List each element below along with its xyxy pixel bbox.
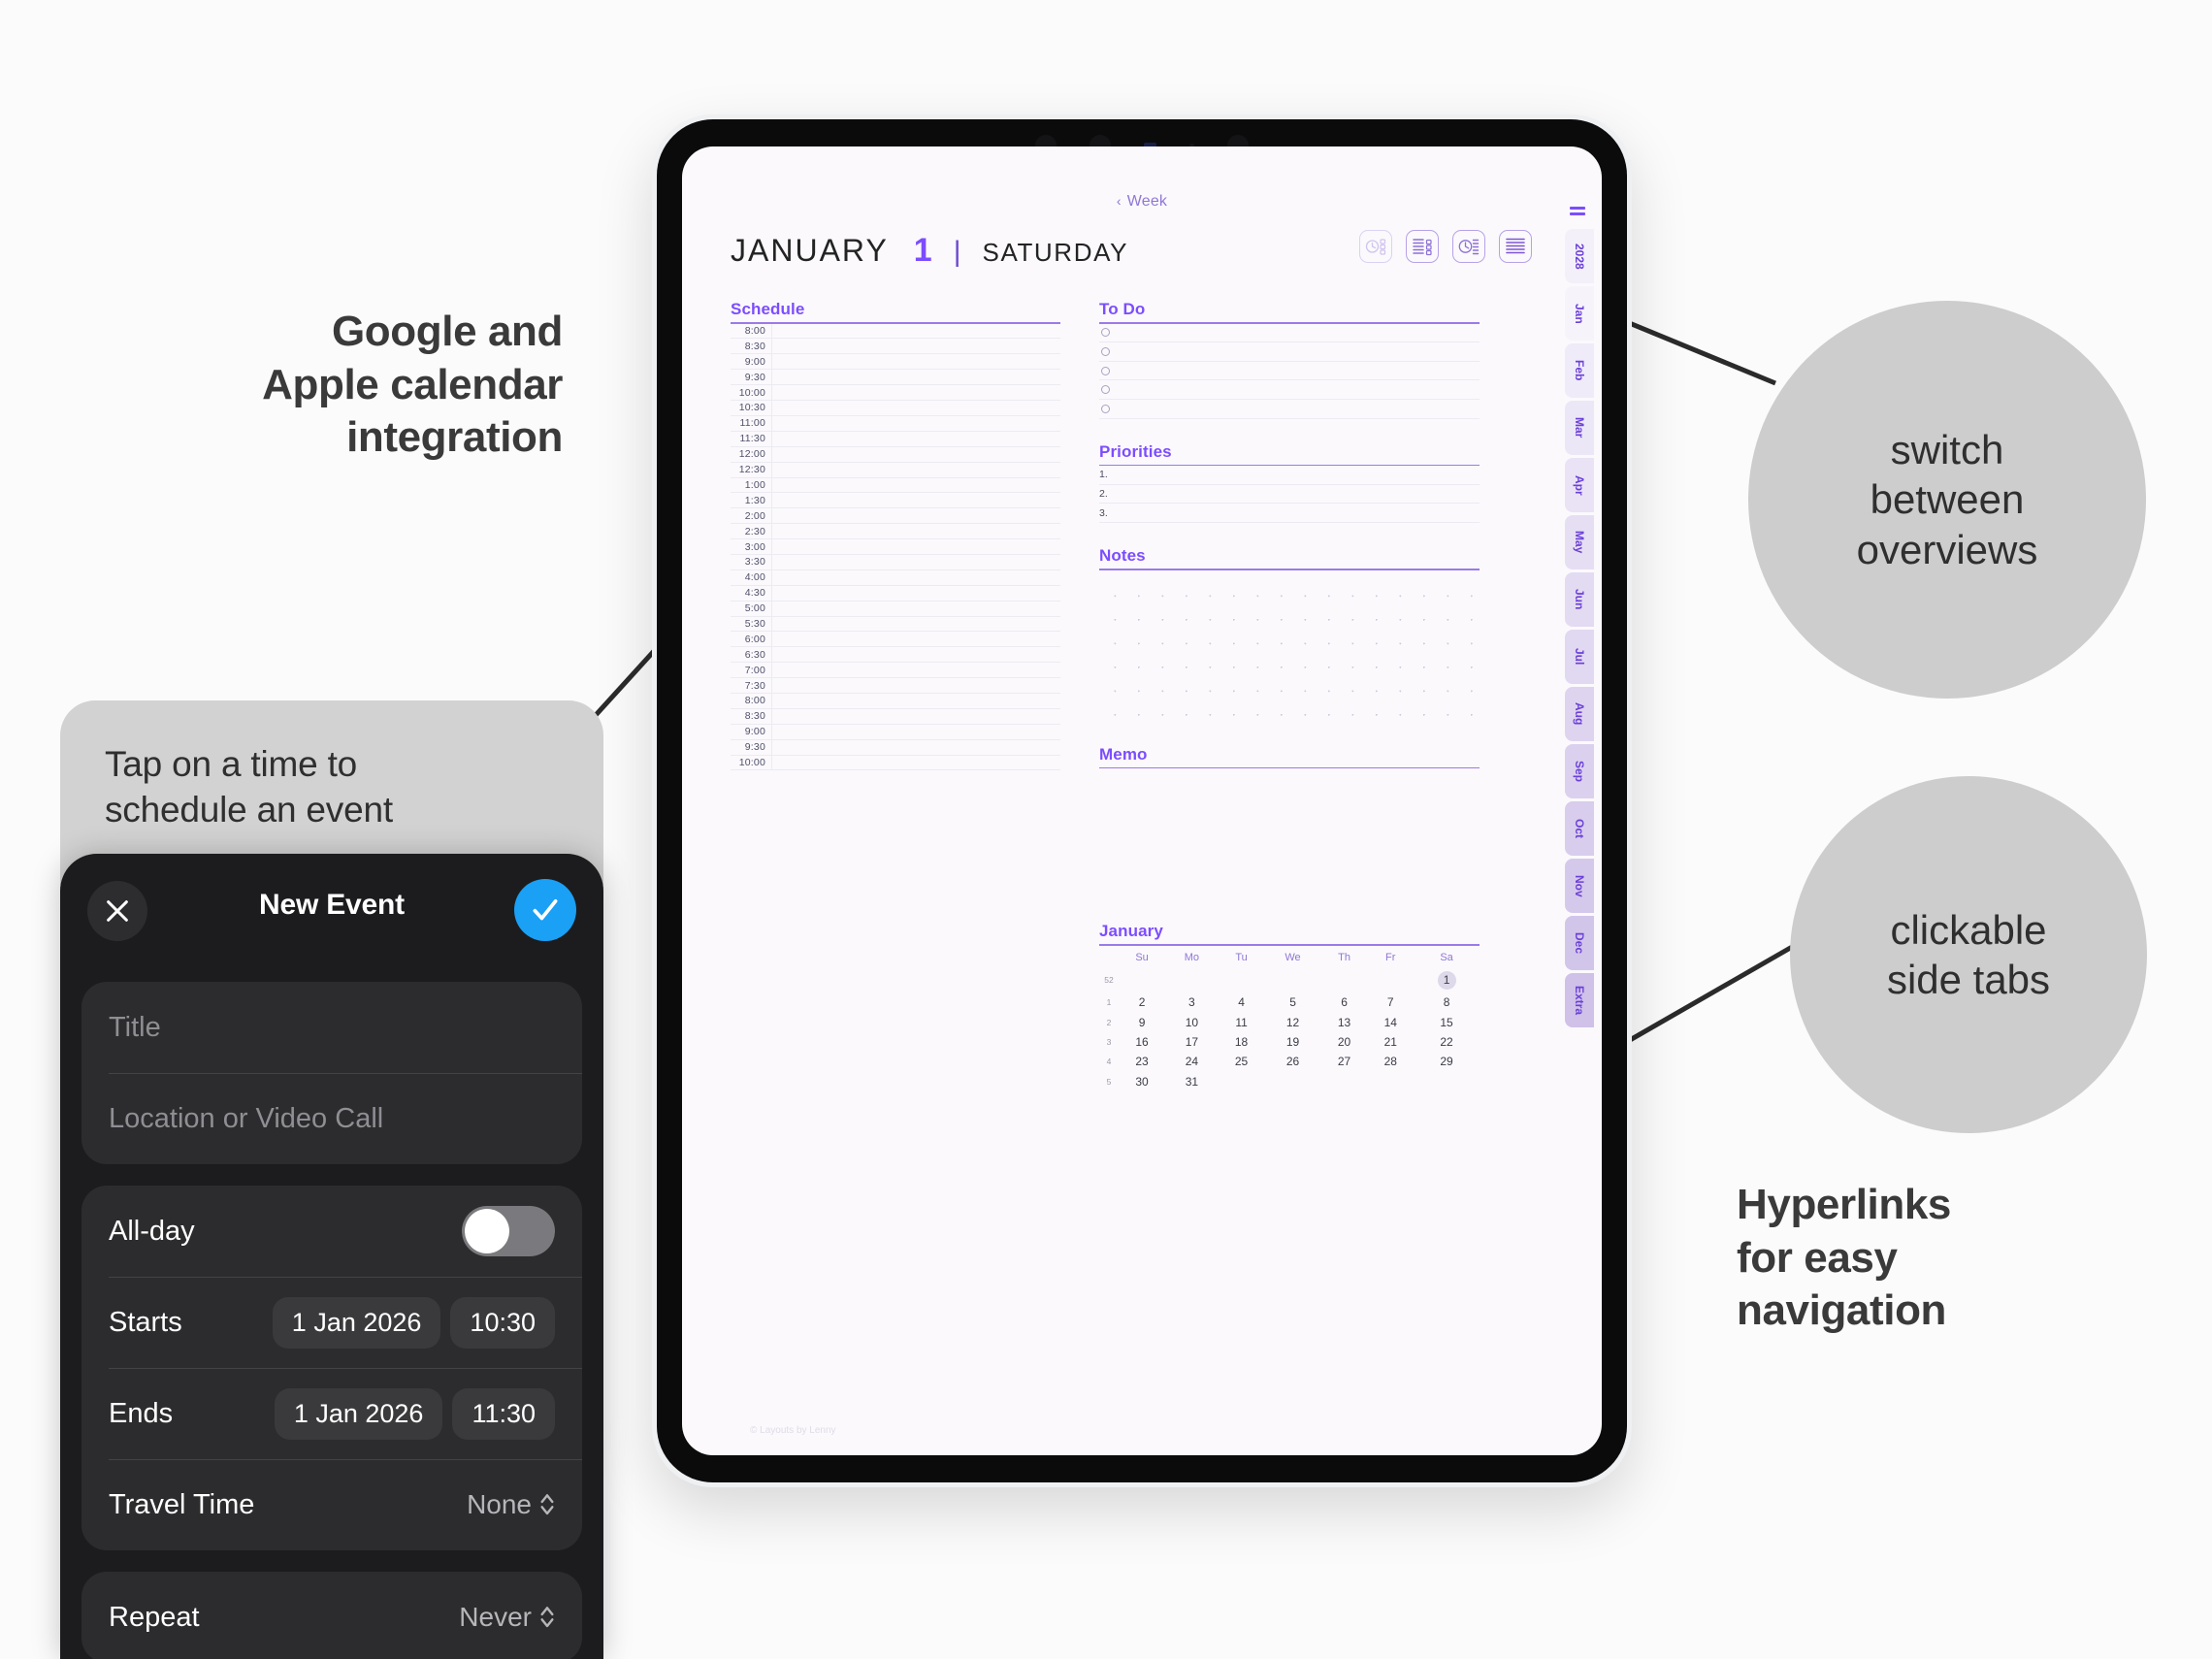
schedule-row[interactable]: 9:00 [731, 354, 1060, 370]
schedule-time-label: 6:00 [731, 634, 771, 645]
schedule-time-label: 4:00 [731, 571, 771, 583]
schedule-time-label: 8:30 [731, 341, 771, 352]
schedule-row[interactable]: 7:30 [731, 678, 1060, 694]
week-link-label: Week [1127, 193, 1167, 210]
schedule-entry-area[interactable] [771, 354, 1060, 369]
side-tab-label: Extra [1573, 986, 1586, 1015]
priority-item[interactable]: 1. [1099, 466, 1480, 485]
schedule-entry-area[interactable] [771, 647, 1060, 662]
side-tab-label: May [1573, 531, 1586, 553]
schedule-row[interactable]: 2:30 [731, 524, 1060, 539]
new-event-panel: New Event Title Location or Video Call A… [60, 854, 603, 1659]
schedule-entry-area[interactable] [771, 632, 1060, 646]
chevron-up-down-icon [539, 1490, 555, 1518]
calendar-day[interactable]: 17 [1165, 1032, 1219, 1052]
memo-writing-area[interactable] [1099, 768, 1480, 904]
schedule-row[interactable]: 6:00 [731, 632, 1060, 647]
calendar-day[interactable]: 5 [1264, 992, 1320, 1012]
calendar-day[interactable]: 3 [1165, 992, 1219, 1012]
side-tab-mar[interactable]: Mar [1565, 401, 1594, 455]
mini-calendar-body: 5211234567829101112131415316171819202122… [1099, 968, 1480, 1091]
calendar-day[interactable]: 12 [1264, 1012, 1320, 1031]
month-label: JANUARY [731, 233, 889, 269]
notes-title: Notes [1099, 546, 1480, 566]
schedule-row[interactable]: 8:00 [731, 324, 1060, 340]
side-tab-jun[interactable]: Jun [1565, 572, 1594, 627]
index-bar [1570, 212, 1585, 215]
schedule-entry-area[interactable] [771, 694, 1060, 708]
day-of-week-label: SATURDAY [983, 238, 1129, 268]
schedule-entry-area[interactable] [771, 463, 1060, 477]
side-tab-label: Aug [1573, 702, 1586, 725]
weekday-header: Su [1119, 952, 1165, 968]
week-number[interactable]: 52 [1099, 968, 1119, 992]
side-tab-label: Dec [1573, 932, 1586, 954]
calendar-day [1219, 1072, 1265, 1091]
annotation-clickable-side-tabs: clickable side tabs [1790, 776, 2147, 1133]
back-to-week-link[interactable]: ‹Week [682, 193, 1602, 211]
calendar-day[interactable]: 28 [1367, 1052, 1414, 1071]
schedule-entry-area[interactable] [771, 508, 1060, 523]
weekday-header: Sa [1414, 952, 1480, 968]
view-switcher [1359, 230, 1532, 263]
side-tab-may[interactable]: May [1565, 515, 1594, 569]
todo-item[interactable] [1099, 324, 1480, 343]
schedule-row[interactable]: 6:30 [731, 647, 1060, 663]
schedule-time-label: 1:30 [731, 495, 771, 506]
schedule-time-label: 11:00 [731, 417, 771, 429]
day-number: 1 [914, 232, 932, 270]
schedule-entry-area[interactable] [771, 602, 1060, 616]
schedule-entry-area[interactable] [771, 432, 1060, 446]
side-tab-label: Jan [1573, 304, 1586, 324]
calendar-day[interactable]: 23 [1119, 1052, 1165, 1071]
schedule-entry-area[interactable] [771, 493, 1060, 507]
weekday-header: We [1264, 952, 1320, 968]
ends-label: Ends [109, 1398, 173, 1430]
event-repeat-card: Repeat Never [81, 1572, 582, 1659]
mini-calendar-head: SuMoTuWeThFrSa [1099, 952, 1480, 968]
schedule-row[interactable]: 12:00 [731, 447, 1060, 463]
tooltip-text: Tap on a time to schedule an event [105, 741, 559, 833]
calendar-day[interactable]: 16 [1119, 1032, 1165, 1052]
calendar-day[interactable]: 1 [1414, 968, 1480, 992]
todo-item[interactable] [1099, 362, 1480, 381]
schedule-entry-area[interactable] [771, 709, 1060, 724]
week-number-header [1099, 952, 1119, 968]
schedule-row[interactable]: 7:00 [731, 663, 1060, 678]
side-tab-label: Apr [1573, 475, 1586, 496]
page-title: JANUARY 1 | SATURDAY [731, 232, 1128, 270]
allday-label: All-day [109, 1216, 195, 1248]
schedule-entry-area[interactable] [771, 339, 1060, 353]
side-tab-dec[interactable]: Dec [1565, 916, 1594, 970]
annotation-google-apple-integration: Google and Apple calendar integration [97, 306, 563, 465]
annotation-text: clickable side tabs [1887, 905, 2050, 1004]
mini-calendar: January SuMoTuWeThFrSa 52112345678291011… [1099, 922, 1480, 1091]
side-tab-label: Nov [1573, 875, 1586, 897]
schedule-row[interactable]: 10:30 [731, 401, 1060, 416]
planner-page: ‹Week JANUARY 1 | SATURDAY [682, 146, 1602, 1455]
schedule-time-label: 9:00 [731, 356, 771, 368]
notes-section: Notes [1099, 546, 1480, 722]
schedule-entry-area[interactable] [771, 740, 1060, 755]
annotation-text: switch between overviews [1857, 425, 2038, 574]
calendar-day [1321, 968, 1368, 992]
schedule-time-label: 1:00 [731, 479, 771, 491]
schedule-row[interactable]: 8:30 [731, 339, 1060, 354]
event-title-card: Title Location or Video Call [81, 982, 582, 1164]
calendar-day[interactable]: 26 [1264, 1052, 1320, 1071]
annotation-line: Hyperlinks [1737, 1179, 2144, 1232]
schedule-entry-area[interactable] [771, 586, 1060, 601]
calendar-day[interactable]: 4 [1219, 992, 1265, 1012]
page-footer: © Layouts by Lenny [750, 1425, 836, 1436]
annotation-line: integration [97, 411, 563, 465]
checkbox-circle-icon[interactable] [1101, 347, 1110, 356]
calendar-week-row: 53031 [1099, 1072, 1480, 1091]
week-number[interactable]: 4 [1099, 1052, 1119, 1071]
side-tabs: 2028JanFebMarAprMayJunJulAugSepOctNovDec… [1561, 229, 1594, 1027]
allday-row[interactable]: All-day [81, 1186, 582, 1277]
week-number[interactable]: 5 [1099, 1072, 1119, 1091]
calendar-day[interactable]: 19 [1264, 1032, 1320, 1052]
view-icon-list-checklist[interactable] [1406, 230, 1439, 263]
todo-item[interactable] [1099, 380, 1480, 400]
calendar-day[interactable]: 21 [1367, 1032, 1414, 1052]
calendar-week-row: 316171819202122 [1099, 1032, 1480, 1052]
calendar-day [1321, 1072, 1368, 1091]
ipad-screen: ‹Week JANUARY 1 | SATURDAY [682, 146, 1602, 1455]
calendar-day[interactable]: 30 [1119, 1072, 1165, 1091]
schedule-time-label: 8:00 [731, 695, 771, 706]
schedule-row[interactable]: 11:30 [731, 432, 1060, 447]
ends-date-pill[interactable]: 1 Jan 2026 [275, 1388, 443, 1440]
annotation-line: Apple calendar [97, 359, 563, 412]
annotation-line: for easy [1737, 1232, 2144, 1285]
schedule-entry-area[interactable] [771, 617, 1060, 632]
poster-canvas: Google and Apple calendar integration Ta… [0, 0, 2212, 1659]
ends-row[interactable]: Ends 1 Jan 2026 11:30 [81, 1368, 582, 1459]
side-tab-label: Oct [1573, 819, 1586, 838]
schedule-time-label: 10:00 [731, 757, 771, 768]
index-menu-icon[interactable] [1561, 207, 1594, 215]
lines-list-icon [1503, 234, 1528, 259]
ipad-device: ‹Week JANUARY 1 | SATURDAY [652, 114, 1632, 1487]
schedule-time-label: 9:00 [731, 726, 771, 737]
side-tab-label: Jun [1573, 589, 1586, 609]
side-tab-label: Mar [1573, 417, 1586, 438]
weekday-header-row: SuMoTuWeThFrSa [1099, 952, 1480, 968]
calendar-day[interactable]: 20 [1321, 1032, 1368, 1052]
right-column: To Do Priorities 1.2.3. Notes [1099, 300, 1480, 1091]
side-tab-rail: 2028JanFebMarAprMayJunJulAugSepOctNovDec… [1561, 207, 1594, 1027]
todo-list [1099, 324, 1480, 419]
priorities-list: 1.2.3. [1099, 466, 1480, 523]
checkbox-circle-icon[interactable] [1101, 328, 1110, 337]
annotation-line: navigation [1737, 1285, 2144, 1338]
repeat-label: Repeat [109, 1602, 200, 1634]
schedule-row[interactable]: 11:00 [731, 416, 1060, 432]
annotation-switch-between-overviews: switch between overviews [1748, 301, 2146, 699]
mini-calendar-table: SuMoTuWeThFrSa 5211234567829101112131415… [1099, 952, 1480, 1091]
calendar-day [1165, 968, 1219, 992]
schedule-entry-area[interactable] [771, 447, 1060, 462]
side-tab-apr[interactable]: Apr [1565, 458, 1594, 512]
calendar-day[interactable]: 14 [1367, 1012, 1414, 1031]
checkbox-circle-icon[interactable] [1101, 385, 1110, 394]
view-icon-clock-grid[interactable] [1359, 230, 1392, 263]
check-icon [529, 894, 562, 927]
side-tab-nov[interactable]: Nov [1565, 859, 1594, 913]
schedule-row[interactable]: 1:30 [731, 493, 1060, 508]
schedule-time-label: 2:30 [731, 526, 771, 537]
priority-number: 2. [1099, 488, 1108, 500]
schedule-entry-area[interactable] [771, 524, 1060, 538]
location-placeholder: Location or Video Call [109, 1103, 383, 1135]
weekday-header: Fr [1367, 952, 1414, 968]
schedule-time-label: 7:00 [731, 665, 771, 676]
calendar-day[interactable]: 15 [1414, 1012, 1480, 1031]
schedule-entry-area[interactable] [771, 663, 1060, 677]
side-tab-feb[interactable]: Feb [1565, 343, 1594, 398]
calendar-day[interactable]: 13 [1321, 1012, 1368, 1031]
priorities-section: Priorities 1.2.3. [1099, 442, 1480, 523]
new-event-header: New Event [60, 854, 603, 968]
schedule-time-label: 12:00 [731, 448, 771, 460]
allday-toggle[interactable] [462, 1206, 555, 1256]
schedule-row[interactable]: 1:00 [731, 478, 1060, 494]
checkbox-circle-icon[interactable] [1101, 367, 1110, 375]
schedule-time-label: 3:00 [731, 541, 771, 553]
schedule-time-label: 4:30 [731, 587, 771, 599]
schedule-row[interactable]: 10:00 [731, 385, 1060, 401]
title-placeholder: Title [109, 1012, 161, 1044]
side-tab-label: Sep [1573, 761, 1586, 782]
schedule-row[interactable]: 8:30 [731, 709, 1060, 725]
title-separator: | [954, 236, 961, 269]
schedule-time-label: 7:30 [731, 680, 771, 692]
schedule-row[interactable]: 9:30 [731, 740, 1060, 756]
memo-title: Memo [1099, 745, 1480, 764]
travel-time-row[interactable]: Travel Time None [81, 1459, 582, 1550]
side-tab-label: Jul [1573, 648, 1586, 665]
side-tab-label: Feb [1573, 360, 1586, 380]
priority-item[interactable]: 3. [1099, 504, 1480, 523]
calendar-day [1414, 1072, 1480, 1091]
calendar-week-row: 423242526272829 [1099, 1052, 1480, 1071]
schedule-row[interactable]: 8:00 [731, 694, 1060, 709]
schedule-row[interactable]: 5:00 [731, 602, 1060, 617]
title-field[interactable]: Title [81, 982, 582, 1073]
schedule-entry-area[interactable] [771, 725, 1060, 739]
calendar-day[interactable]: 24 [1165, 1052, 1219, 1071]
calendar-day[interactable]: 10 [1165, 1012, 1219, 1031]
calendar-day [1367, 968, 1414, 992]
calendar-day[interactable]: 7 [1367, 992, 1414, 1012]
calendar-day [1119, 968, 1165, 992]
schedule-row[interactable]: 9:30 [731, 370, 1060, 385]
calendar-week-row: 521 [1099, 968, 1480, 992]
calendar-day[interactable]: 27 [1321, 1052, 1368, 1071]
side-tab-sep[interactable]: Sep [1565, 744, 1594, 798]
schedule-row[interactable]: 3:00 [731, 539, 1060, 555]
repeat-value: Never [459, 1602, 532, 1633]
calendar-day[interactable]: 22 [1414, 1032, 1480, 1052]
schedule-row[interactable]: 4:30 [731, 586, 1060, 602]
schedule-time-label: 10:00 [731, 387, 771, 399]
toggle-knob [465, 1209, 509, 1253]
calendar-day[interactable]: 25 [1219, 1052, 1265, 1071]
schedule-entry-area[interactable] [771, 401, 1060, 415]
side-tab-label: 2028 [1573, 244, 1586, 270]
todo-item[interactable] [1099, 342, 1480, 362]
starts-label: Starts [109, 1307, 182, 1339]
schedule-time-label: 5:30 [731, 618, 771, 630]
schedule-entry-area[interactable] [771, 385, 1060, 400]
annotation-hyperlinks-navigation: Hyperlinks for easy navigation [1737, 1179, 2144, 1338]
ends-time-pill[interactable]: 11:30 [452, 1388, 555, 1440]
clock-list-icon [1456, 234, 1481, 259]
schedule-time-label: 2:00 [731, 510, 771, 522]
schedule-time-label: 5:00 [731, 602, 771, 614]
calendar-day-today[interactable]: 1 [1438, 971, 1456, 990]
chevron-up-down-icon [539, 1603, 555, 1631]
checkbox-circle-icon[interactable] [1101, 405, 1110, 413]
section-rule [1099, 569, 1480, 570]
schedule-title: Schedule [731, 300, 1060, 319]
travel-time-value: None [467, 1489, 532, 1520]
side-tab-jul[interactable]: Jul [1565, 630, 1594, 684]
side-tab-jan[interactable]: Jan [1565, 286, 1594, 341]
priorities-title: Priorities [1099, 442, 1480, 462]
schedule-row[interactable]: 5:30 [731, 617, 1060, 633]
schedule-entry-area[interactable] [771, 555, 1060, 569]
todo-title: To Do [1099, 300, 1480, 319]
schedule-entry-area[interactable] [771, 370, 1060, 384]
priority-item[interactable]: 2. [1099, 485, 1480, 504]
schedule-time-label: 9:30 [731, 372, 771, 383]
schedule-time-label: 3:30 [731, 556, 771, 568]
starts-row[interactable]: Starts 1 Jan 2026 10:30 [81, 1277, 582, 1368]
schedule-rows: 8:008:309:009:3010:0010:3011:0011:3012:0… [731, 324, 1060, 771]
calendar-day [1367, 1072, 1414, 1091]
calendar-week-row: 29101112131415 [1099, 1012, 1480, 1031]
calendar-day[interactable]: 11 [1219, 1012, 1265, 1031]
schedule-time-label: 12:30 [731, 464, 771, 475]
calendar-day[interactable]: 18 [1219, 1032, 1265, 1052]
mini-calendar-title: January [1099, 922, 1480, 941]
calendar-day[interactable]: 29 [1414, 1052, 1480, 1071]
schedule-entry-area[interactable] [771, 416, 1060, 431]
calendar-day[interactable]: 9 [1119, 1012, 1165, 1031]
starts-date-pill[interactable]: 1 Jan 2026 [273, 1297, 441, 1349]
calendar-day[interactable]: 8 [1414, 992, 1480, 1012]
view-icon-lines-list[interactable] [1499, 230, 1532, 263]
calendar-week-row: 12345678 [1099, 992, 1480, 1012]
memo-section: Memo [1099, 745, 1480, 905]
chevron-left-icon: ‹ [1117, 193, 1122, 209]
location-field[interactable]: Location or Video Call [81, 1073, 582, 1164]
side-tab-aug[interactable]: Aug [1565, 687, 1594, 741]
schedule-time-label: 6:30 [731, 649, 771, 661]
schedule-row[interactable]: 9:00 [731, 725, 1060, 740]
side-tab-2028[interactable]: 2028 [1565, 229, 1594, 283]
schedule-entry-area[interactable] [771, 324, 1060, 339]
done-button[interactable] [514, 879, 576, 941]
view-icon-clock-list[interactable] [1452, 230, 1485, 263]
schedule-row[interactable]: 2:00 [731, 508, 1060, 524]
schedule-entry-area[interactable] [771, 678, 1060, 693]
todo-item[interactable] [1099, 400, 1480, 419]
event-time-card: All-day Starts 1 Jan 2026 10:30 Ends 1 J… [81, 1186, 582, 1550]
calendar-day [1219, 968, 1265, 992]
clock-grid-icon [1363, 234, 1388, 259]
index-bar [1570, 207, 1585, 210]
schedule-time-label: 9:30 [731, 741, 771, 753]
repeat-row[interactable]: Repeat Never [81, 1572, 582, 1659]
week-number[interactable]: 3 [1099, 1032, 1119, 1052]
calendar-day [1264, 1072, 1320, 1091]
schedule-time-label: 11:30 [731, 433, 771, 444]
calendar-day[interactable]: 2 [1119, 992, 1165, 1012]
notes-dot-grid[interactable] [1099, 578, 1480, 722]
calendar-day[interactable]: 31 [1165, 1072, 1219, 1091]
schedule-time-label: 8:30 [731, 710, 771, 722]
priority-number: 1. [1099, 469, 1108, 480]
schedule-entry-area[interactable] [771, 478, 1060, 493]
schedule-entry-area[interactable] [771, 570, 1060, 585]
week-number[interactable]: 2 [1099, 1012, 1119, 1031]
starts-time-pill[interactable]: 10:30 [450, 1297, 555, 1349]
side-tab-extra[interactable]: Extra [1565, 973, 1594, 1027]
section-rule [1099, 944, 1480, 946]
week-number[interactable]: 1 [1099, 992, 1119, 1012]
schedule-entry-area[interactable] [771, 539, 1060, 554]
calendar-day [1264, 968, 1320, 992]
schedule-entry-area[interactable] [771, 756, 1060, 770]
travel-time-label: Travel Time [109, 1489, 254, 1521]
schedule-section: Schedule 8:008:309:009:3010:0010:3011:00… [731, 300, 1060, 770]
list-checklist-icon [1410, 234, 1435, 259]
todo-section: To Do [1099, 300, 1480, 419]
side-tab-oct[interactable]: Oct [1565, 801, 1594, 856]
weekday-header: Tu [1219, 952, 1265, 968]
weekday-header: Th [1321, 952, 1368, 968]
schedule-row[interactable]: 10:00 [731, 756, 1060, 771]
schedule-row[interactable]: 3:30 [731, 555, 1060, 570]
annotation-line: Google and [97, 306, 563, 359]
calendar-day[interactable]: 6 [1321, 992, 1368, 1012]
ipad-bezel: ‹Week JANUARY 1 | SATURDAY [657, 119, 1627, 1482]
schedule-row[interactable]: 4:00 [731, 570, 1060, 586]
schedule-time-label: 10:30 [731, 402, 771, 413]
weekday-header: Mo [1165, 952, 1219, 968]
schedule-time-label: 8:00 [731, 325, 771, 337]
schedule-row[interactable]: 12:30 [731, 463, 1060, 478]
priority-number: 3. [1099, 507, 1108, 519]
